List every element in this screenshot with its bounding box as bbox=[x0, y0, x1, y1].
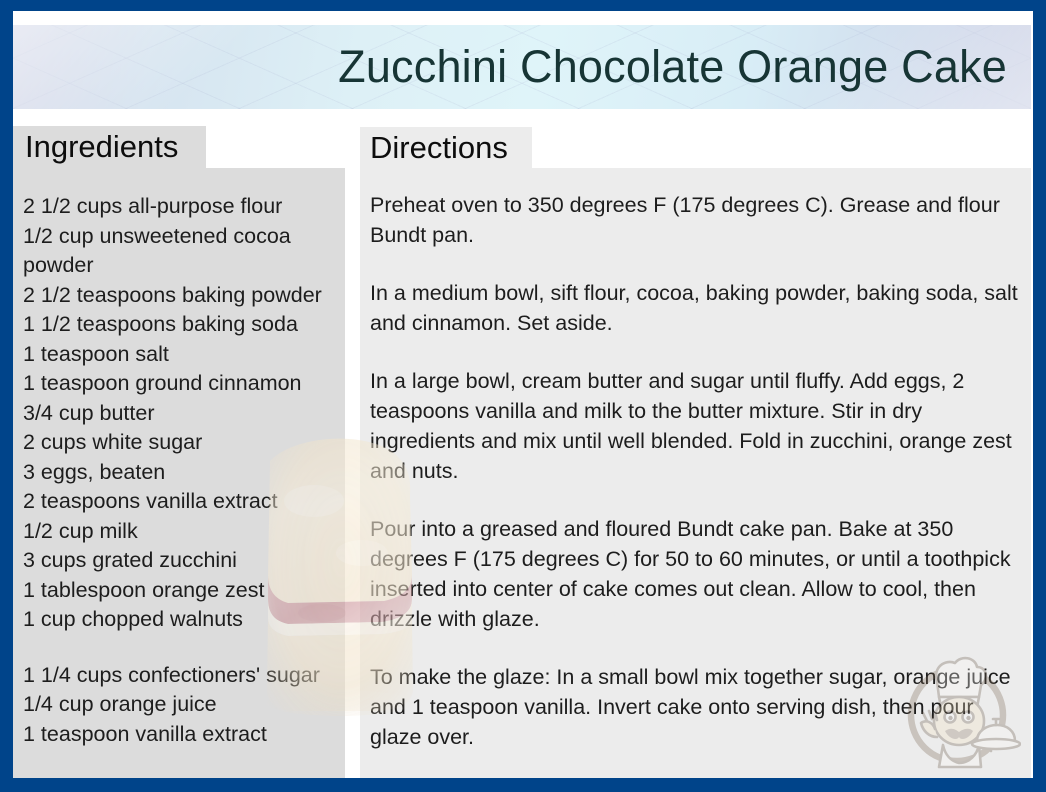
ingredient-item: 1 1/4 cups confectioners' sugar bbox=[23, 661, 339, 691]
ingredient-item: 2 teaspoons vanilla extract bbox=[23, 487, 339, 517]
ingredient-item: 1/2 cup unsweetened cocoa powder bbox=[23, 222, 339, 281]
ingredient-item: 3 cups grated zucchini bbox=[23, 546, 339, 576]
section-tab-ingredients-label: Ingredients bbox=[25, 129, 178, 165]
ingredients-group-spacer bbox=[23, 635, 339, 661]
recipe-card: Zucchini Chocolate Orange Cake Ingredien… bbox=[0, 0, 1046, 792]
page-title: Zucchini Chocolate Orange Cake bbox=[338, 41, 1007, 93]
section-tab-ingredients: Ingredients bbox=[13, 126, 206, 168]
title-banner: Zucchini Chocolate Orange Cake bbox=[13, 25, 1031, 109]
directions-list: Preheat oven to 350 degrees F (175 degre… bbox=[370, 190, 1018, 752]
ingredient-item: 2 1/2 teaspoons baking powder bbox=[23, 281, 339, 311]
ingredients-list: 2 1/2 cups all-purpose flour1/2 cup unsw… bbox=[23, 192, 339, 749]
ingredient-item: 1 1/2 teaspoons baking soda bbox=[23, 310, 339, 340]
ingredient-item: 1 tablespoon orange zest bbox=[23, 576, 339, 606]
ingredient-item: 2 cups white sugar bbox=[23, 428, 339, 458]
section-tab-directions-label: Directions bbox=[370, 130, 508, 166]
direction-step: In a large bowl, cream butter and sugar … bbox=[370, 366, 1018, 486]
ingredient-item: 1 teaspoon vanilla extract bbox=[23, 720, 339, 750]
directions-panel: Preheat oven to 350 degrees F (175 degre… bbox=[360, 168, 1031, 778]
ingredients-panel: 2 1/2 cups all-purpose flour1/2 cup unsw… bbox=[13, 168, 345, 778]
direction-step: Pour into a greased and floured Bundt ca… bbox=[370, 514, 1018, 634]
ingredient-item: 1 teaspoon ground cinnamon bbox=[23, 369, 339, 399]
section-tab-directions: Directions bbox=[360, 127, 532, 168]
direction-step: In a medium bowl, sift flour, cocoa, bak… bbox=[370, 278, 1018, 338]
ingredient-item: 1 cup chopped walnuts bbox=[23, 605, 339, 635]
ingredient-item: 3/4 cup butter bbox=[23, 399, 339, 429]
ingredient-item: 1/4 cup orange juice bbox=[23, 690, 339, 720]
direction-step: To make the glaze: In a small bowl mix t… bbox=[370, 662, 1018, 752]
direction-step: Preheat oven to 350 degrees F (175 degre… bbox=[370, 190, 1018, 250]
ingredient-item: 1 teaspoon salt bbox=[23, 340, 339, 370]
ingredient-item: 2 1/2 cups all-purpose flour bbox=[23, 192, 339, 222]
ingredient-item: 1/2 cup milk bbox=[23, 517, 339, 547]
ingredient-item: 3 eggs, beaten bbox=[23, 458, 339, 488]
